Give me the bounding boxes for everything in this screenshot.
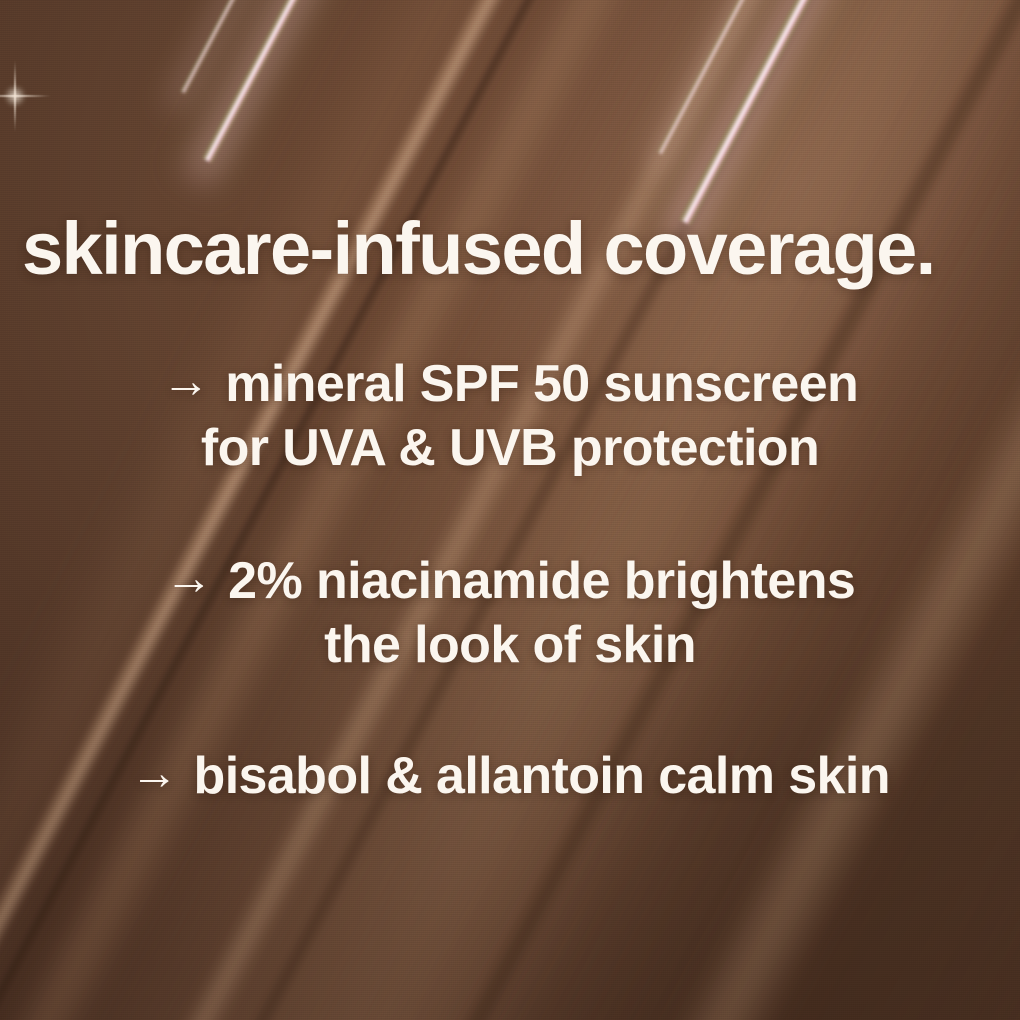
benefit-line: → bisabol & allantoin calm skin <box>0 744 1020 808</box>
benefit-text: bisabol & allantoin calm skin <box>194 744 890 808</box>
arrow-right-icon: → <box>130 744 177 804</box>
benefit-text: 2% niacinamide brightens <box>228 549 855 613</box>
marketing-card: skincare-infused coverage. → mineral SPF… <box>0 0 1020 1020</box>
list-item: → mineral SPF 50 sunscreen for UVA & UVB… <box>0 352 1020 481</box>
benefit-line: → mineral SPF 50 sunscreen <box>0 352 1020 416</box>
arrow-right-icon: → <box>162 352 209 412</box>
list-item: → 2% niacinamide brightens the look of s… <box>0 549 1020 678</box>
page-title: skincare-infused coverage. <box>22 212 1018 286</box>
benefit-line: the look of skin <box>0 613 1020 677</box>
benefit-line: → 2% niacinamide brightens <box>0 549 1020 613</box>
arrow-right-icon: → <box>165 549 212 609</box>
list-item: → bisabol & allantoin calm skin <box>0 744 1020 808</box>
benefit-line: for UVA & UVB protection <box>0 416 1020 480</box>
benefit-text: for UVA & UVB protection <box>201 416 819 480</box>
benefit-list: → mineral SPF 50 sunscreen for UVA & UVB… <box>0 352 1020 834</box>
benefit-text: the look of skin <box>324 613 696 677</box>
text-content: skincare-infused coverage. → mineral SPF… <box>0 0 1020 1020</box>
benefit-text: mineral SPF 50 sunscreen <box>225 352 858 416</box>
